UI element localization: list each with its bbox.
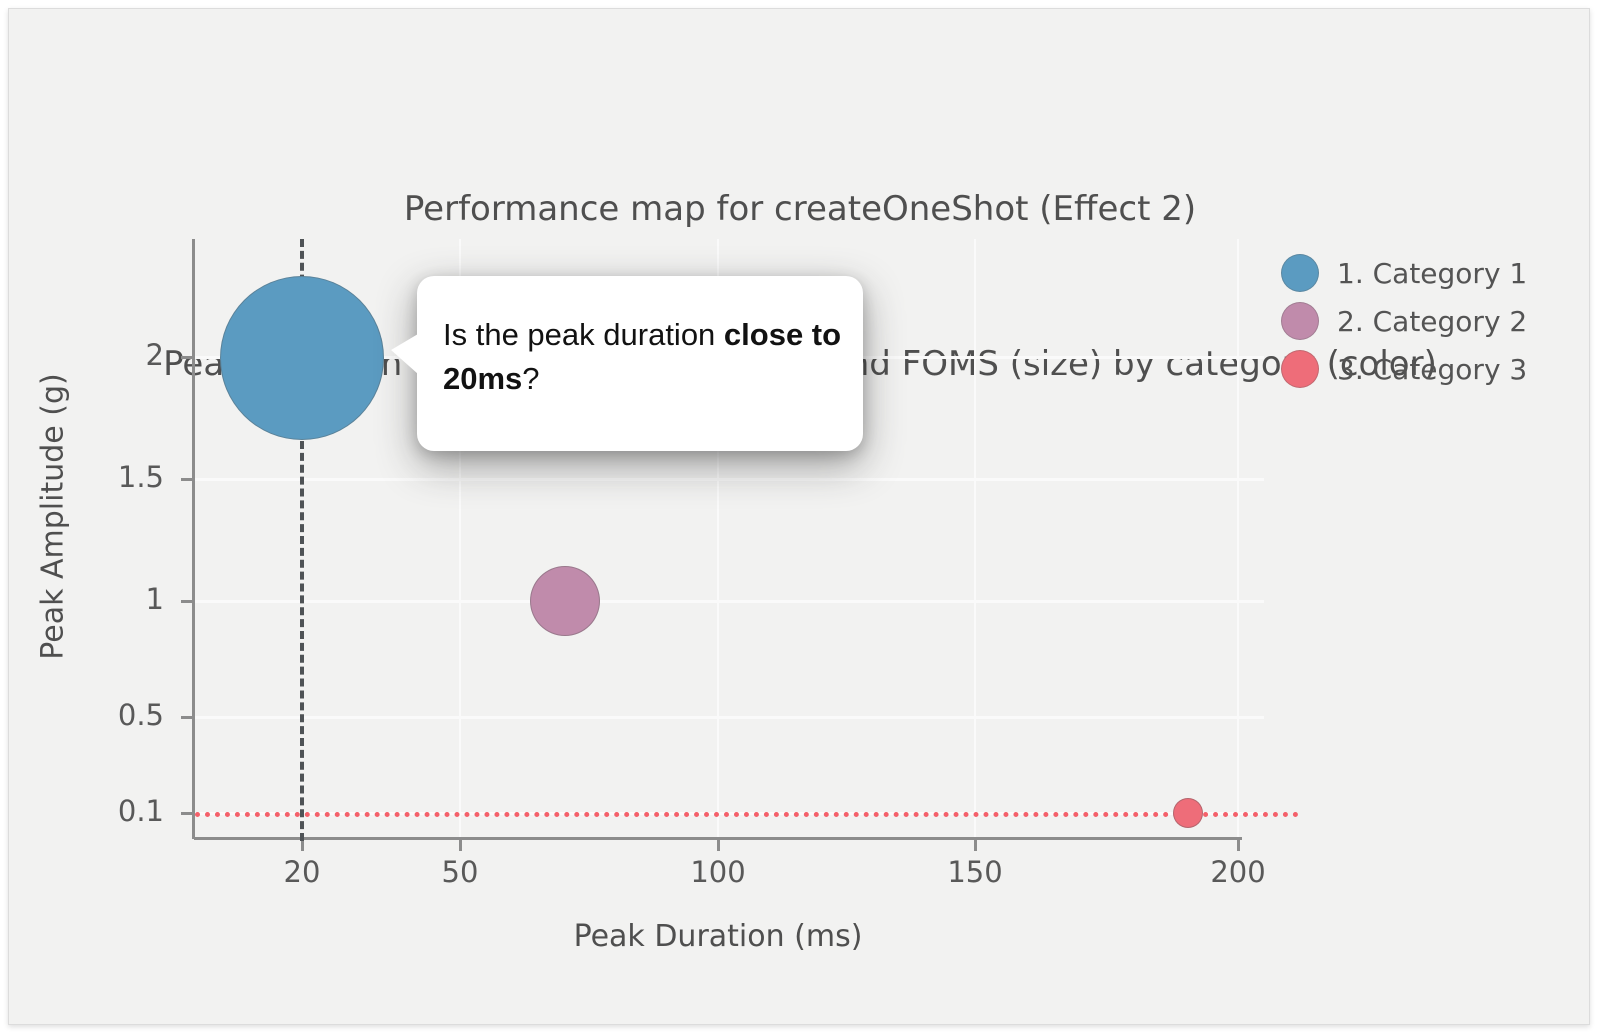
y-tick-label-2: 2 <box>54 338 164 372</box>
legend-item-category-1[interactable]: 1. Category 1 <box>1281 249 1581 297</box>
x-tick-label-20: 20 <box>242 855 362 889</box>
callout-tail-icon <box>391 334 418 374</box>
gridline-h-0-5 <box>194 716 1264 719</box>
x-tick-mark-200 <box>1237 837 1240 851</box>
y-tick-mark-1 <box>181 600 193 603</box>
x-tick-label-100: 100 <box>658 855 778 889</box>
y-tick-mark-1-5 <box>181 478 193 481</box>
x-tick-label-200: 200 <box>1178 855 1298 889</box>
legend-label-category-2: 2. Category 2 <box>1337 305 1527 338</box>
y-tick-mark-2 <box>181 356 193 359</box>
reference-line-horizontal-0-1g <box>195 812 1299 817</box>
gridline-v-200 <box>1237 239 1239 839</box>
data-point-category-1[interactable] <box>220 276 384 440</box>
x-axis-title: Peak Duration (ms) <box>194 919 1242 954</box>
legend-label-category-1: 1. Category 1 <box>1337 257 1527 290</box>
gridline-h-1-5 <box>194 478 1264 481</box>
legend: 1. Category 1 2. Category 2 3. Category … <box>1281 249 1581 393</box>
callout-text: Is the peak duration close to 20ms? <box>443 313 843 401</box>
data-point-category-3[interactable] <box>1173 798 1203 828</box>
legend-item-category-3[interactable]: 3. Category 3 <box>1281 345 1581 393</box>
legend-swatch-icon-category-3 <box>1281 350 1319 388</box>
data-point-category-2[interactable] <box>530 566 600 636</box>
callout-text-normal: Is the peak duration <box>443 317 724 352</box>
x-tick-mark-100 <box>717 837 720 851</box>
y-tick-mark-0-1 <box>181 812 193 815</box>
gridline-h-1 <box>194 600 1264 603</box>
chart-canvas: Performance map for createOneShot (Effec… <box>8 8 1590 1025</box>
y-axis-title: Peak Amplitude (g) <box>36 257 71 777</box>
y-tick-label-0-1: 0.1 <box>54 794 164 828</box>
y-tick-label-0-5: 0.5 <box>54 698 164 732</box>
x-tick-mark-50 <box>459 837 462 851</box>
legend-swatch-icon-category-1 <box>1281 254 1319 292</box>
x-tick-mark-150 <box>974 837 977 851</box>
legend-item-category-2[interactable]: 2. Category 2 <box>1281 297 1581 345</box>
y-tick-label-1-5: 1.5 <box>54 460 164 494</box>
y-axis-spine <box>192 239 195 839</box>
y-tick-mark-0-5 <box>181 716 193 719</box>
callout-text-suffix: ? <box>522 361 539 396</box>
x-tick-label-150: 150 <box>915 855 1035 889</box>
y-tick-label-1: 1 <box>54 582 164 616</box>
legend-swatch-icon-category-2 <box>1281 302 1319 340</box>
callout-tooltip: Is the peak duration close to 20ms? <box>417 276 863 451</box>
chart-title-line1: Performance map for createOneShot (Effec… <box>9 184 1590 236</box>
gridline-v-150 <box>974 239 976 839</box>
x-tick-label-50: 50 <box>400 855 520 889</box>
legend-label-category-3: 3. Category 3 <box>1337 353 1527 386</box>
